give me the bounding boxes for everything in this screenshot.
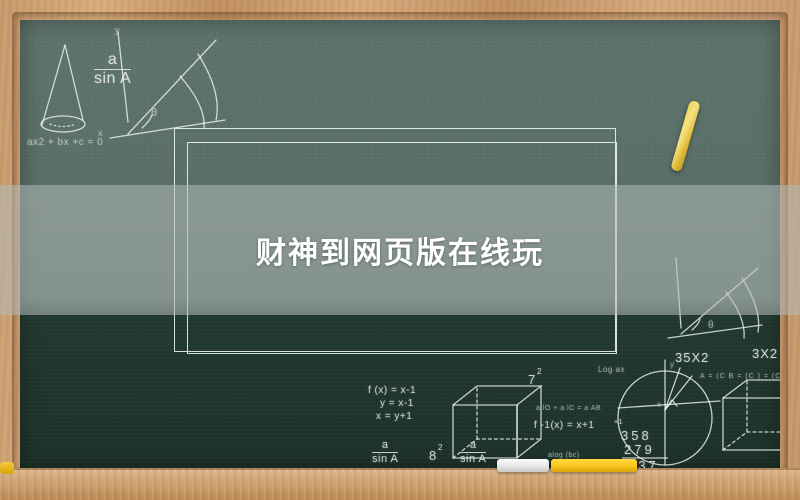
ledge-wood-grain [0, 468, 800, 500]
yellow-chalk-nub [0, 462, 14, 474]
chalk-ledge [0, 468, 800, 500]
yellow-chalk-stick-tray [551, 459, 637, 472]
page-title: 财神到网页版在线玩 [0, 185, 800, 315]
white-chalk-stick-tray [497, 459, 549, 472]
screenshot-canvas: a sin A ax2 + bx +c = 0 y x θ f (x) = x-… [0, 0, 800, 500]
